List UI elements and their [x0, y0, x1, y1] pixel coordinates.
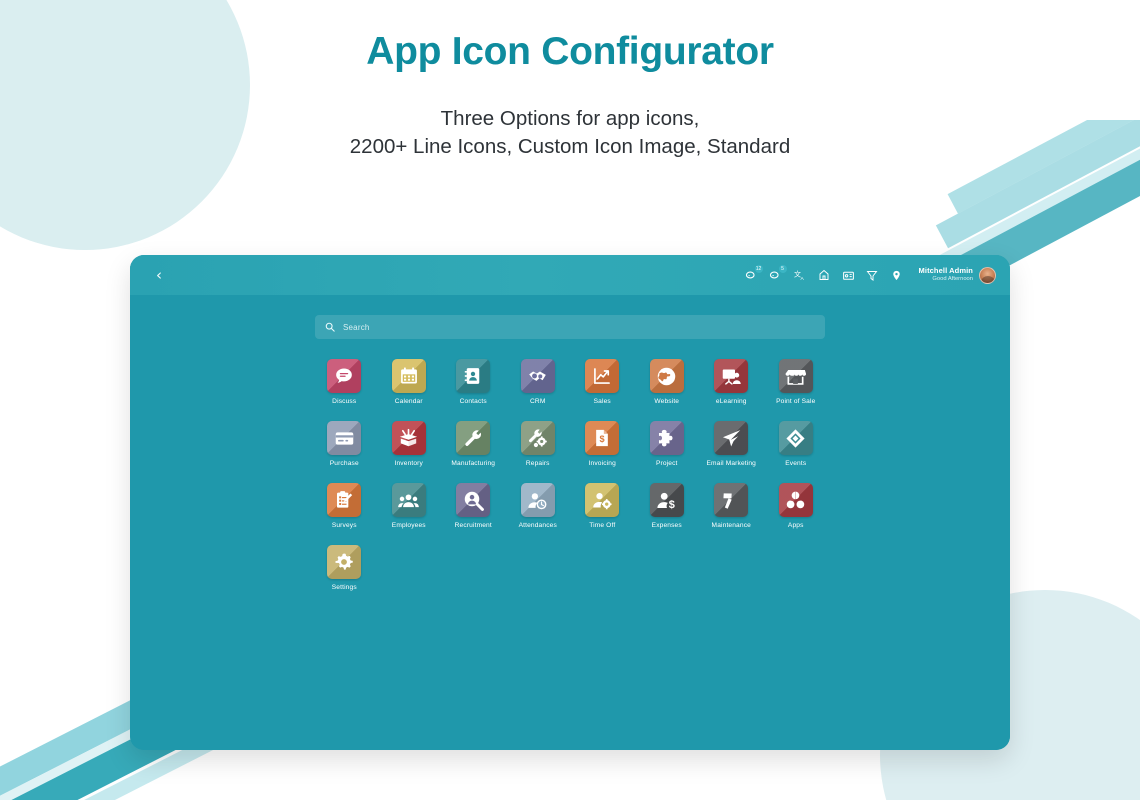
- app-label: Maintenance: [712, 522, 751, 529]
- address-book-icon[interactable]: [456, 359, 490, 393]
- app-tile-expenses[interactable]: $Expenses: [635, 483, 700, 529]
- app-tile-crm[interactable]: CRM: [506, 359, 571, 405]
- app-label: Employees: [392, 522, 426, 529]
- system-tray: 12 5 文 A: [745, 267, 996, 284]
- chart-up-icon[interactable]: [585, 359, 619, 393]
- window-header: ‹ 12 5: [130, 255, 1010, 295]
- app-tile-sales[interactable]: Sales: [570, 359, 635, 405]
- app-tile-time-off[interactable]: Time Off: [570, 483, 635, 529]
- app-tile-surveys[interactable]: Surveys: [312, 483, 377, 529]
- messages-icon[interactable]: 12: [745, 268, 760, 283]
- app-tile-email-marketing[interactable]: Email Marketing: [699, 421, 764, 467]
- app-tile-apps[interactable]: Apps: [764, 483, 829, 529]
- messages-badge: 12: [755, 265, 763, 273]
- page-subtitle-line1: Three Options for app icons,: [0, 105, 1140, 133]
- app-label: Sales: [594, 398, 611, 405]
- app-tile-project[interactable]: Project: [635, 421, 700, 467]
- user-text: Mitchell Admin Good Afternoon: [919, 267, 973, 282]
- svg-text:A: A: [800, 275, 804, 281]
- calendar-icon[interactable]: [392, 359, 426, 393]
- chat-bubble-icon[interactable]: [327, 359, 361, 393]
- app-label: Project: [656, 460, 678, 467]
- app-tile-manufacturing[interactable]: Manufacturing: [441, 421, 506, 467]
- app-tile-settings[interactable]: Settings: [312, 545, 377, 591]
- person-dollar-icon[interactable]: $: [650, 483, 684, 517]
- app-label: Recruitment: [455, 522, 492, 529]
- window-body: DiscussCalendarContactsCRMSalesWebsiteeL…: [130, 295, 1010, 750]
- credit-card-icon[interactable]: [327, 421, 361, 455]
- app-tile-point-of-sale[interactable]: Point of Sale: [764, 359, 829, 405]
- user-menu[interactable]: Mitchell Admin Good Afternoon: [919, 267, 996, 284]
- search-input[interactable]: [343, 323, 815, 332]
- globe-icon[interactable]: [650, 359, 684, 393]
- app-grid: DiscussCalendarContactsCRMSalesWebsiteeL…: [312, 359, 828, 591]
- app-tile-contacts[interactable]: Contacts: [441, 359, 506, 405]
- user-name: Mitchell Admin: [919, 267, 973, 276]
- app-tile-invoicing[interactable]: $Invoicing: [570, 421, 635, 467]
- app-label: Settings: [332, 584, 357, 591]
- open-box-icon[interactable]: [392, 421, 426, 455]
- app-tile-events[interactable]: Events: [764, 421, 829, 467]
- location-pin-icon[interactable]: [889, 268, 904, 283]
- app-tile-website[interactable]: Website: [635, 359, 700, 405]
- app-tile-calendar[interactable]: Calendar: [377, 359, 442, 405]
- app-tile-discuss[interactable]: Discuss: [312, 359, 377, 405]
- user-greeting: Good Afternoon: [919, 276, 973, 283]
- app-label: Point of Sale: [776, 398, 815, 405]
- app-label: Repairs: [526, 460, 550, 467]
- gallery-icon[interactable]: [841, 268, 856, 283]
- activities-badge: 5: [779, 265, 787, 273]
- app-label: Inventory: [395, 460, 423, 467]
- app-tile-inventory[interactable]: Inventory: [377, 421, 442, 467]
- app-tile-recruitment[interactable]: Recruitment: [441, 483, 506, 529]
- wrench-icon[interactable]: [456, 421, 490, 455]
- app-label: Surveys: [332, 522, 357, 529]
- gear-icon[interactable]: [327, 545, 361, 579]
- filter-icon[interactable]: [865, 268, 880, 283]
- app-tile-elearning[interactable]: eLearning: [699, 359, 764, 405]
- app-tile-employees[interactable]: Employees: [377, 483, 442, 529]
- clipboard-pen-icon[interactable]: [327, 483, 361, 517]
- puzzle-piece-icon[interactable]: [650, 421, 684, 455]
- app-label: Expenses: [652, 522, 682, 529]
- app-label: Calendar: [395, 398, 423, 405]
- person-gear-icon[interactable]: [585, 483, 619, 517]
- app-label: Purchase: [330, 460, 359, 467]
- app-label: Discuss: [332, 398, 356, 405]
- handshake-icon[interactable]: [521, 359, 555, 393]
- svg-text:$: $: [669, 498, 675, 510]
- magnifier-person-icon[interactable]: [456, 483, 490, 517]
- page-title: App Icon Configurator: [0, 30, 1140, 74]
- translate-icon[interactable]: 文 A: [793, 268, 808, 283]
- svg-text:$: $: [600, 434, 605, 444]
- ticket-icon[interactable]: [779, 421, 813, 455]
- hammer-icon[interactable]: [714, 483, 748, 517]
- storefront-icon[interactable]: [779, 359, 813, 393]
- app-tile-maintenance[interactable]: Maintenance: [699, 483, 764, 529]
- person-clock-icon[interactable]: [521, 483, 555, 517]
- app-label: Website: [654, 398, 679, 405]
- app-label: Email Marketing: [706, 460, 756, 467]
- presentation-icon[interactable]: [714, 359, 748, 393]
- poster-stage: App Icon Configurator Three Options for …: [0, 0, 1140, 800]
- app-tile-repairs[interactable]: Repairs: [506, 421, 571, 467]
- shop-icon[interactable]: [817, 268, 832, 283]
- back-button[interactable]: ‹: [156, 268, 162, 283]
- app-tile-purchase[interactable]: Purchase: [312, 421, 377, 467]
- search-bar[interactable]: [315, 315, 825, 339]
- app-label: Invoicing: [589, 460, 616, 467]
- app-label: Events: [785, 460, 806, 467]
- app-tile-attendances[interactable]: Attendances: [506, 483, 571, 529]
- app-label: CRM: [530, 398, 545, 405]
- app-label: Apps: [788, 522, 804, 529]
- avatar[interactable]: [979, 267, 996, 284]
- app-window: ‹ 12 5: [130, 255, 1010, 750]
- app-label: Manufacturing: [451, 460, 495, 467]
- wrench-gear-icon[interactable]: [521, 421, 555, 455]
- app-label: Contacts: [460, 398, 487, 405]
- app-label: Time Off: [589, 522, 615, 529]
- page-subtitle: Three Options for app icons, 2200+ Line …: [0, 105, 1140, 161]
- app-label: Attendances: [519, 522, 557, 529]
- blocks-icon[interactable]: [779, 483, 813, 517]
- page-subtitle-line2: 2200+ Line Icons, Custom Icon Image, Sta…: [0, 133, 1140, 161]
- invoice-dollar-icon[interactable]: $: [585, 421, 619, 455]
- app-label: eLearning: [716, 398, 747, 405]
- paper-plane-icon[interactable]: [714, 421, 748, 455]
- people-group-icon[interactable]: [392, 483, 426, 517]
- activities-icon[interactable]: 5: [769, 268, 784, 283]
- search-icon: [325, 322, 335, 332]
